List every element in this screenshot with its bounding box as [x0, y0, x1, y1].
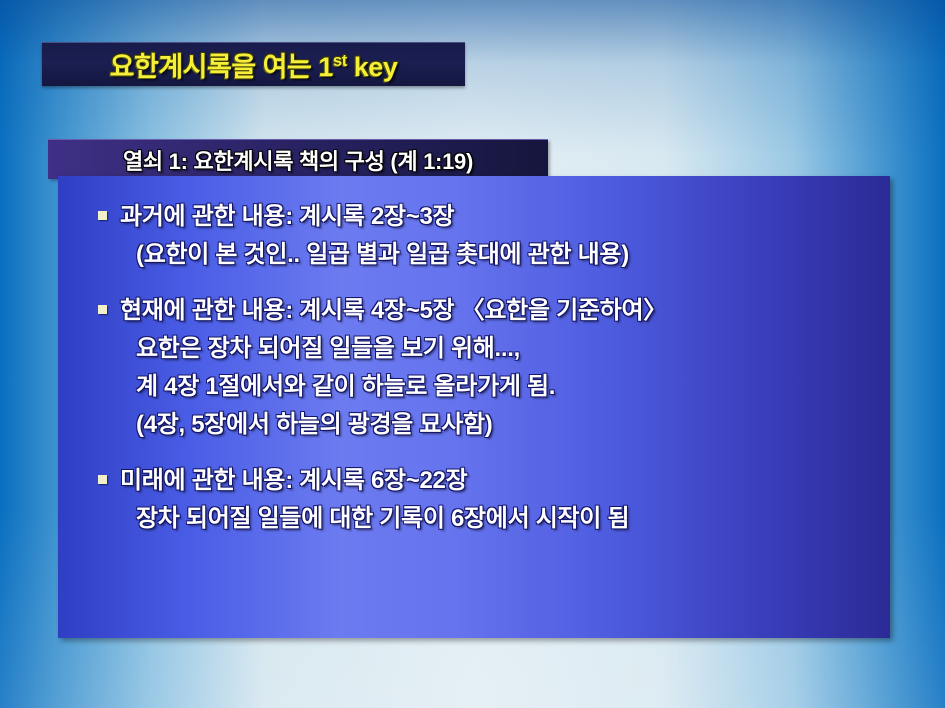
bullet-text: 과거에 관한 내용: 계시록 2장~3장 — [120, 198, 454, 236]
square-bullet-icon — [98, 475, 107, 484]
slide-subtitle: 열쇠 1: 요한계시록 책의 구성 (계 1:19) — [48, 144, 548, 176]
bullet-subtext: 계 4장 1절에서와 같이 하늘로 올라가게 됨. — [82, 368, 555, 406]
bullet-subline: (요한이 본 것인.. 일곱 별과 일곱 촛대에 관한 내용) — [82, 236, 860, 274]
slide-subtitle-bar: 열쇠 1: 요한계시록 책의 구성 (계 1:19) — [48, 139, 548, 179]
slide-title-suffix: key — [347, 52, 398, 82]
slide-title-ordinal-suffix: st — [333, 51, 347, 70]
bullet-item: 미래에 관한 내용: 계시록 6장~22장 — [82, 462, 860, 500]
bullet-subline: 계 4장 1절에서와 같이 하늘로 올라가게 됨. — [82, 368, 860, 406]
slide-content-panel: 과거에 관한 내용: 계시록 2장~3장 (요한이 본 것인.. 일곱 별과 일… — [58, 176, 890, 638]
bullet-group: 현재에 관한 내용: 계시록 4장~5장 〈요한을 기준하여〉 요한은 장차 되… — [82, 292, 860, 444]
slide-title-prefix: 요한계시록을 여는 1 — [110, 52, 333, 82]
bullet-text: 미래에 관한 내용: 계시록 6장~22장 — [120, 462, 467, 500]
bullet-text: 현재에 관한 내용: 계시록 4장~5장 〈요한을 기준하여〉 — [120, 292, 667, 330]
square-bullet-icon — [98, 211, 107, 220]
bullet-item: 과거에 관한 내용: 계시록 2장~3장 — [82, 198, 860, 236]
bullet-subtext: 장차 되어질 일들에 대한 기록이 6장에서 시작이 됨 — [82, 500, 629, 538]
slide-title: 요한계시록을 여는 1st key — [42, 45, 465, 84]
slide-title-bar: 요한계시록을 여는 1st key — [42, 42, 465, 86]
bullet-subtext: 요한은 장차 되어질 일들을 보기 위해..., — [82, 330, 520, 368]
presentation-slide: 요한계시록을 여는 1st key 열쇠 1: 요한계시록 책의 구성 (계 1… — [0, 0, 945, 708]
bullet-subline: 장차 되어질 일들에 대한 기록이 6장에서 시작이 됨 — [82, 500, 860, 538]
bullet-item: 현재에 관한 내용: 계시록 4장~5장 〈요한을 기준하여〉 — [82, 292, 860, 330]
bullet-subtext: (4장, 5장에서 하늘의 광경을 묘사함) — [82, 406, 492, 444]
bullet-group: 미래에 관한 내용: 계시록 6장~22장 장차 되어질 일들에 대한 기록이 … — [82, 462, 860, 538]
square-bullet-icon — [98, 305, 107, 314]
bullet-group: 과거에 관한 내용: 계시록 2장~3장 (요한이 본 것인.. 일곱 별과 일… — [82, 198, 860, 274]
bullet-subtext: (요한이 본 것인.. 일곱 별과 일곱 촛대에 관한 내용) — [82, 236, 629, 274]
bullet-subline: 요한은 장차 되어질 일들을 보기 위해..., — [82, 330, 860, 368]
bullet-subline: (4장, 5장에서 하늘의 광경을 묘사함) — [82, 406, 860, 444]
